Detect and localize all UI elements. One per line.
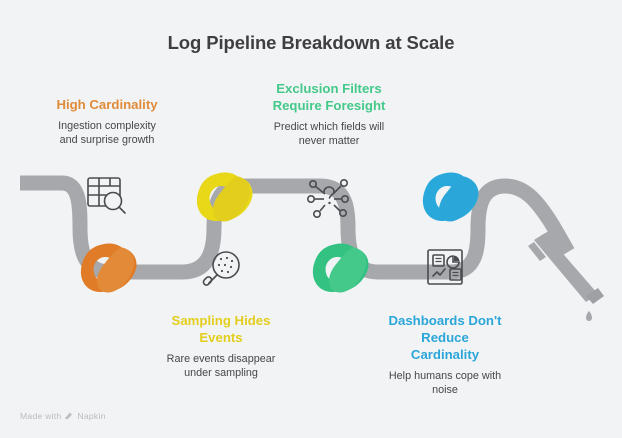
stage-knot-high-cardinality[interactable] <box>81 244 137 293</box>
stage-description: Ingestion complexity and surprise growth <box>18 119 196 147</box>
stage-description: Rare events disappear under sampling <box>132 352 310 380</box>
stage-label-high-cardinality: High Cardinality Ingestion complexity an… <box>18 96 196 147</box>
dashboard-panels-icon <box>428 250 462 284</box>
stage-label-dashboards-dont-reduce-cardinality: Dashboards Don't Reduce Cardinality Help… <box>356 312 534 397</box>
table-search-icon <box>88 178 125 213</box>
stage-knot-exclusion-filters[interactable] <box>313 244 369 293</box>
stage-title: Sampling Hides Events <box>132 312 310 346</box>
watermark-brand: Napkin <box>77 411 105 421</box>
stage-description: Predict which fields will never matter <box>240 120 418 148</box>
watermark-prefix: Made with <box>20 411 61 421</box>
hose-nozzle-icon <box>528 230 604 321</box>
hose-pipe <box>20 183 568 272</box>
stage-label-sampling-hides-events: Sampling Hides Events Rare events disapp… <box>132 312 310 380</box>
stage-title: Dashboards Don't Reduce Cardinality <box>356 312 534 363</box>
network-question-icon <box>308 180 348 217</box>
stage-description: Help humans cope with noise <box>356 369 534 397</box>
napkin-nib-icon <box>64 411 74 421</box>
stage-title: Exclusion Filters Require Foresight <box>240 80 418 114</box>
page-title: Log Pipeline Breakdown at Scale <box>0 32 622 54</box>
sieve-strainer-icon <box>202 252 239 286</box>
stage-title: High Cardinality <box>18 96 196 113</box>
stage-knot-sampling-hides-events[interactable] <box>197 173 253 222</box>
napkin-watermark: Made with Napkin <box>20 411 106 421</box>
stage-knot-dashboards-dont-reduce-cardinality[interactable] <box>423 173 479 222</box>
stage-label-exclusion-filters: Exclusion Filters Require Foresight Pred… <box>240 80 418 148</box>
infographic-canvas: Log Pipeline Breakdown at Scale <box>0 0 622 438</box>
